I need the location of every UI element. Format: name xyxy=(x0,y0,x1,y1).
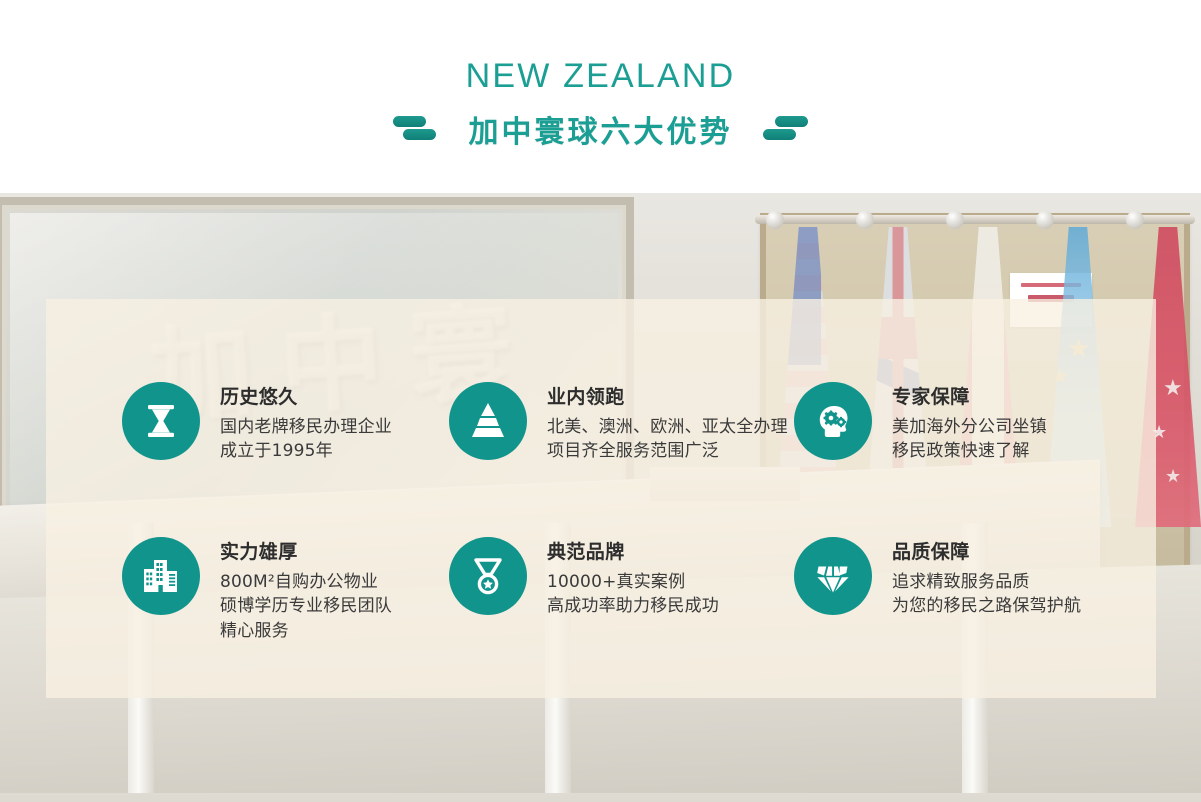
feature-line: 精心服务 xyxy=(220,619,392,644)
header: NEW ZEALAND 加中寰球六大优势 xyxy=(0,0,1201,193)
feature-item-history[interactable]: 历史悠久 国内老牌移民办理企业 成立于1995年 xyxy=(122,382,392,464)
feature-title: 历史悠久 xyxy=(220,386,392,409)
feature-line: 10000+真实案例 xyxy=(547,570,719,595)
feature-item-leadership[interactable]: 业内领跑 北美、澳洲、欧洲、亚太全办理 项目齐全服务范围广泛 xyxy=(449,382,788,464)
floor xyxy=(0,793,1201,802)
feature-item-experts[interactable]: 专家保障 美加海外分公司坐镇 移民政策快速了解 xyxy=(794,382,1047,464)
feature-text: 专家保障 美加海外分公司坐镇 移民政策快速了解 xyxy=(892,382,1047,464)
advantages-grid: 历史悠久 国内老牌移民办理企业 成立于1995年 业内领跑 北美、澳洲、欧洲、亚… xyxy=(46,299,1156,698)
feature-title: 实力雄厚 xyxy=(220,541,392,564)
feature-title: 专家保障 xyxy=(892,386,1047,409)
feature-line: 成立于1995年 xyxy=(220,439,392,464)
page-title-chinese: 加中寰球六大优势 xyxy=(469,107,733,151)
diamond-icon xyxy=(794,537,872,615)
double-pill-decoration-left-icon xyxy=(393,112,439,146)
feature-text: 业内领跑 北美、澳洲、欧洲、亚太全办理 项目齐全服务范围广泛 xyxy=(547,382,788,464)
advantages-panel: 历史悠久 国内老牌移民办理企业 成立于1995年 业内领跑 北美、澳洲、欧洲、亚… xyxy=(46,299,1156,698)
promo-banner: NEW ZEALAND 加中寰球六大优势 加中寰 加中寰球投资咨询有限公司 xyxy=(0,0,1201,802)
title-row: 加中寰球六大优势 xyxy=(393,107,809,151)
feature-text: 典范品牌 10000+真实案例 高成功率助力移民成功 xyxy=(547,537,719,619)
brain-gears-icon xyxy=(794,382,872,460)
feature-line: 硕博学历专业移民团队 xyxy=(220,594,392,619)
feature-line: 追求精致服务品质 xyxy=(892,570,1081,595)
feature-line: 美加海外分公司坐镇 xyxy=(892,415,1047,440)
hourglass-icon xyxy=(122,382,200,460)
feature-title: 品质保障 xyxy=(892,541,1081,564)
feature-line: 为您的移民之路保驾护航 xyxy=(892,594,1081,619)
building-icon xyxy=(122,537,200,615)
feature-title: 典范品牌 xyxy=(547,541,719,564)
feature-line: 高成功率助力移民成功 xyxy=(547,594,719,619)
feature-text: 实力雄厚 800M²自购办公物业 硕博学历专业移民团队 精心服务 xyxy=(220,537,392,644)
feature-item-strength[interactable]: 实力雄厚 800M²自购办公物业 硕博学历专业移民团队 精心服务 xyxy=(122,537,392,644)
feature-text: 历史悠久 国内老牌移民办理企业 成立于1995年 xyxy=(220,382,392,464)
feature-text: 品质保障 追求精致服务品质 为您的移民之路保驾护航 xyxy=(892,537,1081,619)
feature-line: 北美、澳洲、欧洲、亚太全办理 xyxy=(547,415,788,440)
feature-line: 800M²自购办公物业 xyxy=(220,570,392,595)
pyramid-icon xyxy=(449,382,527,460)
feature-line: 项目齐全服务范围广泛 xyxy=(547,439,788,464)
double-pill-decoration-right-icon xyxy=(763,112,809,146)
feature-line: 国内老牌移民办理企业 xyxy=(220,415,392,440)
feature-title: 业内领跑 xyxy=(547,386,788,409)
medal-icon xyxy=(449,537,527,615)
page-title-english: NEW ZEALAND xyxy=(466,57,736,96)
feature-line: 移民政策快速了解 xyxy=(892,439,1047,464)
feature-item-brand[interactable]: 典范品牌 10000+真实案例 高成功率助力移民成功 xyxy=(449,537,719,619)
feature-item-quality[interactable]: 品质保障 追求精致服务品质 为您的移民之路保驾护航 xyxy=(794,537,1081,619)
